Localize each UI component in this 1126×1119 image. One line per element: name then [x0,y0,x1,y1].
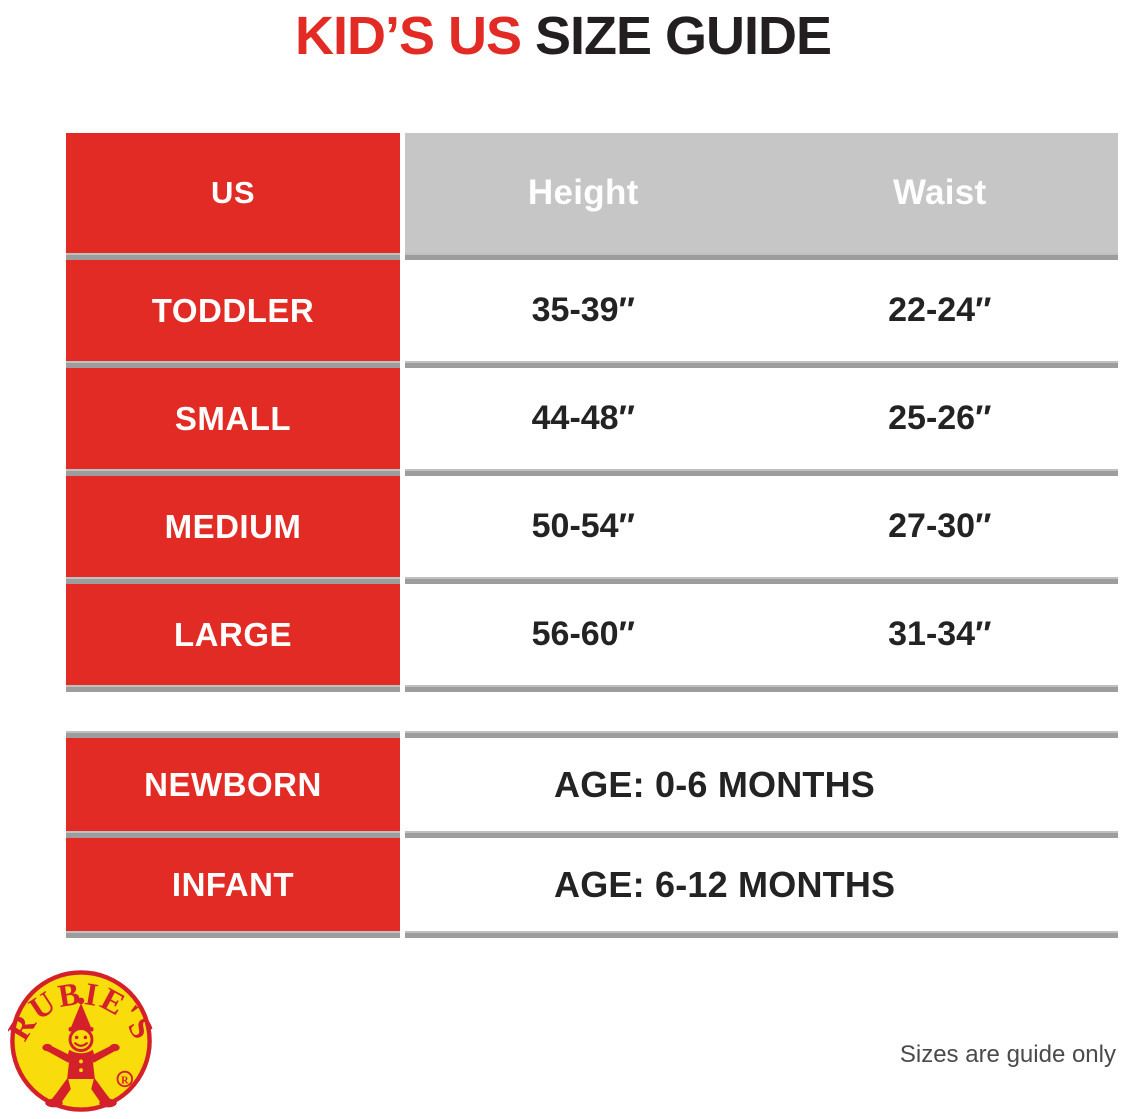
cell-height: 44-48″ [405,368,762,469]
cell-us-size: INFANT [66,838,400,931]
cell-age: AGE: 0-6 MONTHS [405,738,1118,831]
row-divider-left [66,831,400,838]
cell-height: 35-39″ [405,260,762,361]
page-title-rest: SIZE GUIDE [521,6,831,66]
row-divider-right [405,685,1118,692]
cell-height: 56-60″ [405,584,762,685]
row-divider-left [66,469,400,476]
cell-waist: 22-24″ [762,260,1119,361]
rubies-logo: RUBIE'S [8,968,154,1114]
cell-waist: 31-34″ [762,584,1119,685]
table-row: MEDIUM 50-54″ 27-30″ [66,476,1118,577]
cell-waist: 27-30″ [762,476,1119,577]
page-title-highlight: KID’S US [295,6,521,66]
table-row: SMALL 44-48″ 25-26″ [66,368,1118,469]
table-row: NEWBORN AGE: 0-6 MONTHS [66,738,1118,831]
row-divider-right [405,577,1118,584]
row-divider-left [66,253,400,260]
row-divider [66,831,1118,838]
row-measures: 35-39″ 22-24″ [405,260,1118,361]
page-title: KID’S US SIZE GUIDE [0,2,1126,70]
row-divider-right [405,253,1118,260]
header-cell-waist: Waist [762,133,1119,253]
row-divider-right [405,361,1118,368]
header-cells-measures: Height Waist [405,133,1118,253]
cell-us-size: TODDLER [66,260,400,361]
row-divider [66,577,1118,584]
row-divider-right [405,831,1118,838]
cell-height: 50-54″ [405,476,762,577]
row-measures: 56-60″ 31-34″ [405,584,1118,685]
table-row: TODDLER 35-39″ 22-24″ [66,260,1118,361]
rubies-logo-icon: RUBIE'S [8,968,154,1114]
size-table: US Height Waist TODDLER 35-39″ 22-24″ SM… [66,133,1118,692]
row-measures: 44-48″ 25-26″ [405,368,1118,469]
cell-us-size: SMALL [66,368,400,469]
row-divider [66,361,1118,368]
cell-us-size: NEWBORN [66,738,400,831]
header-cell-height: Height [405,133,762,253]
row-divider-left [66,361,400,368]
table-row: INFANT AGE: 6-12 MONTHS [66,838,1118,931]
cell-us-size: MEDIUM [66,476,400,577]
row-age-value: AGE: 0-6 MONTHS [405,738,1118,831]
header-cell-us: US [66,133,400,253]
row-divider-right [405,731,1118,738]
row-divider [66,469,1118,476]
svg-text:R: R [121,1075,129,1086]
cell-age: AGE: 6-12 MONTHS [405,838,1118,931]
row-divider-right [405,931,1118,938]
table-header-row: US Height Waist [66,133,1118,253]
row-divider-left [66,931,400,938]
cell-waist: 25-26″ [762,368,1119,469]
age-table: NEWBORN AGE: 0-6 MONTHS INFANT AGE: 6-12… [66,731,1118,938]
row-measures: 50-54″ 27-30″ [405,476,1118,577]
table-top-divider [66,731,1118,738]
row-divider-right [405,469,1118,476]
table-row: LARGE 56-60″ 31-34″ [66,584,1118,685]
row-divider-left [66,685,400,692]
table-bottom-divider [66,685,1118,692]
row-divider [66,253,1118,260]
table-bottom-divider [66,931,1118,938]
footer-disclaimer: Sizes are guide only [900,1041,1116,1069]
row-divider-left [66,577,400,584]
row-age-value: AGE: 6-12 MONTHS [405,838,1118,931]
row-divider-left [66,731,400,738]
cell-us-size: LARGE [66,584,400,685]
